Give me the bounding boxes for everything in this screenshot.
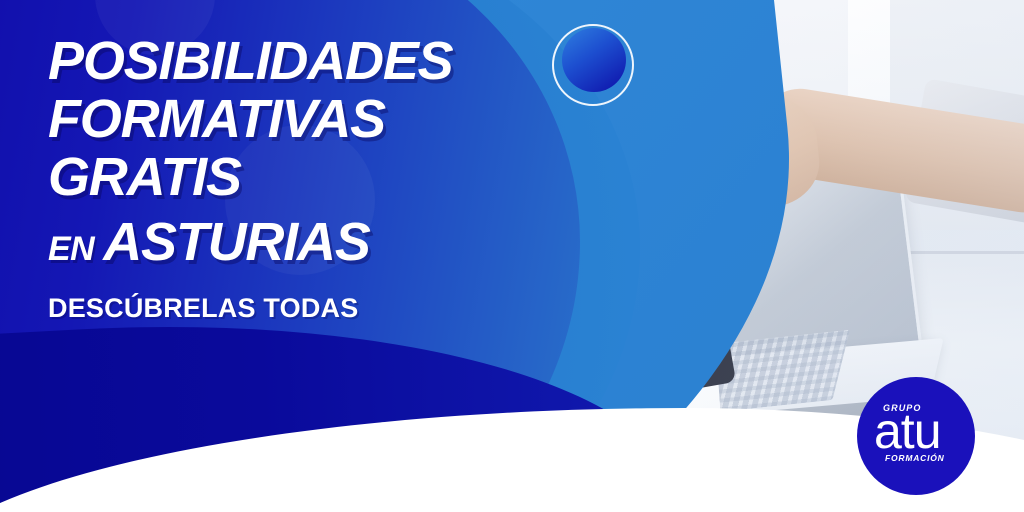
subheadline: DESCÚBRELAS TODAS: [48, 293, 518, 324]
headline-word-asturias: ASTURIAS: [103, 211, 369, 273]
logo-bottom-text: FORMACIÓN: [885, 453, 945, 463]
headline-word-en: EN: [48, 230, 94, 269]
headline-line-2: FORMATIVAS: [48, 94, 518, 146]
headline-line-4: EN ASTURIAS: [48, 211, 518, 273]
logo-main-text: atu: [874, 406, 941, 456]
circle-filled-ornament: [562, 28, 626, 92]
promo-banner: POSIBILIDADES FORMATIVAS GRATIS EN ASTUR…: [0, 0, 1024, 512]
headline-line-1: POSIBILIDADES: [48, 36, 518, 88]
headline-line-3: GRATIS: [48, 152, 518, 204]
logo-inner: GRUPO atu FORMACIÓN: [857, 377, 975, 495]
headline-block: POSIBILIDADES FORMATIVAS GRATIS EN ASTUR…: [48, 36, 518, 324]
logo-grupo-atu-formacion[interactable]: GRUPO atu FORMACIÓN: [857, 377, 975, 495]
